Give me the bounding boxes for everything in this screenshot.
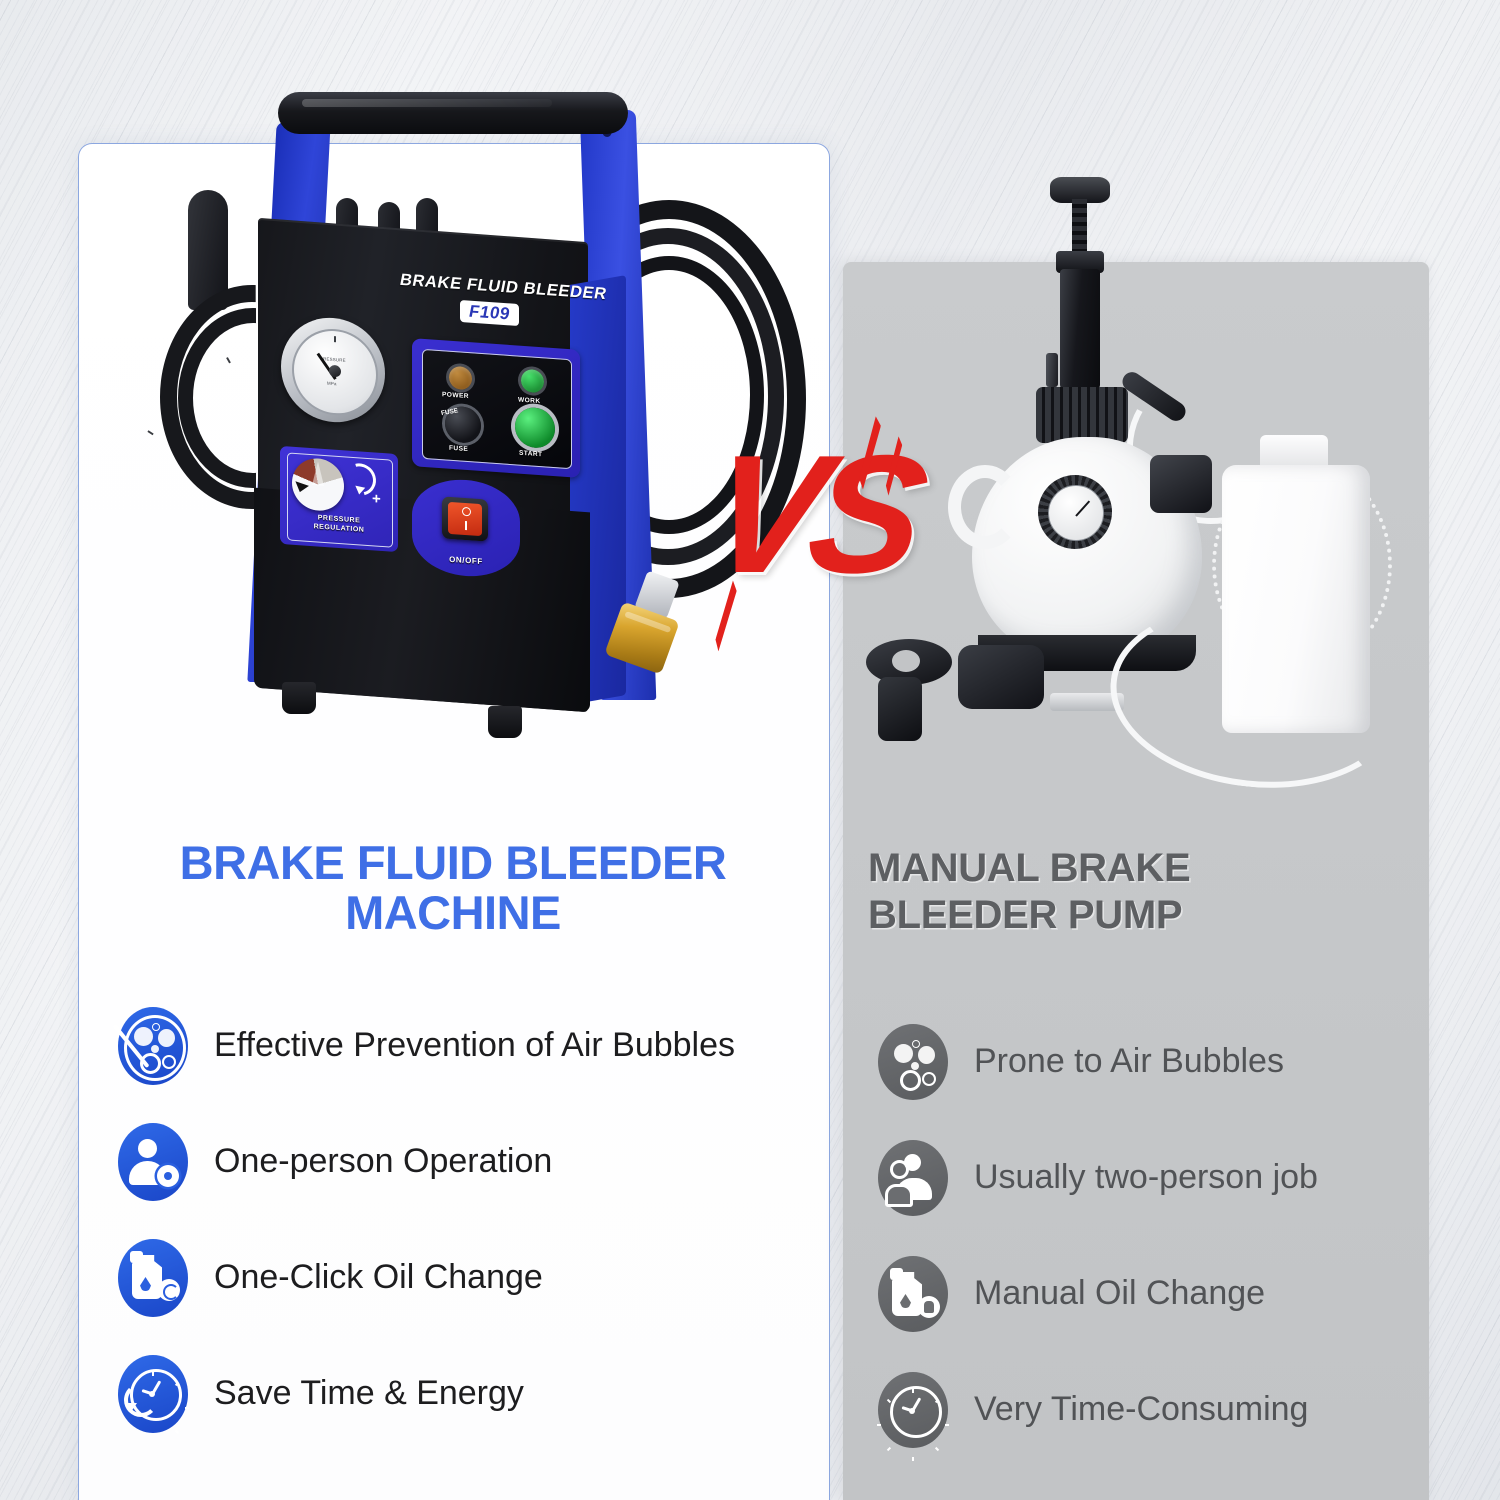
right-title-line1: MANUAL BRAKE	[868, 846, 1190, 890]
pump-screw-cap	[1036, 387, 1128, 443]
list-item: One-person Operation	[118, 1116, 818, 1208]
left-feature-list: Effective Prevention of Air Bubbles One-…	[118, 1000, 818, 1464]
clock-arrow-icon	[118, 1355, 188, 1433]
left-panel-title: BRAKE FLUID BLEEDER MACHINE	[78, 838, 828, 938]
list-item: Usually two-person job	[878, 1134, 1408, 1222]
list-item: Effective Prevention of Air Bubbles	[118, 1000, 818, 1092]
feature-text: Save Time & Energy	[214, 1373, 524, 1414]
feature-text: Manual Oil Change	[974, 1273, 1265, 1314]
oil-change-auto-icon	[118, 1239, 188, 1317]
feature-text: One-Click Oil Change	[214, 1257, 543, 1298]
oil-change-manual-icon	[878, 1256, 948, 1332]
right-feature-list: Prone to Air Bubbles Usually two-person …	[878, 1018, 1408, 1482]
feature-text: Very Time-Consuming	[974, 1389, 1308, 1430]
tank-valve	[1150, 455, 1212, 513]
on-off-switch[interactable]	[442, 496, 488, 541]
machine-foot-right	[488, 706, 522, 738]
feature-text: Effective Prevention of Air Bubbles	[214, 1025, 735, 1066]
product-model-badge: F109	[460, 300, 519, 326]
pump-pressure-gauge	[1038, 475, 1112, 549]
list-item: Prone to Air Bubbles	[878, 1018, 1408, 1106]
list-item: Save Time & Energy	[118, 1348, 818, 1440]
right-panel-title: MANUAL BRAKE BLEEDER PUMP	[868, 845, 1408, 939]
pressure-label-line2: REGULATION	[314, 523, 365, 534]
list-item: Manual Oil Change	[878, 1250, 1408, 1338]
control-plate-inner: POWER WORK FUSE START	[422, 349, 572, 469]
brake-fluid-bleeder-machine-image: BRAKE FLUID BLEEDER F109 PRESSURE MPa PO…	[150, 70, 770, 790]
feature-text: One-person Operation	[214, 1141, 552, 1182]
pump-threaded-rod	[1072, 199, 1087, 259]
start-button-label: START	[519, 450, 543, 459]
machine-foot-left	[282, 682, 316, 714]
manual-brake-bleeder-pump-image	[860, 165, 1420, 745]
no-air-bubbles-icon	[118, 1007, 188, 1085]
feature-text: Usually two-person job	[974, 1157, 1318, 1198]
gauge-unit-label: MPa	[327, 381, 337, 387]
right-title-line2: BLEEDER PUMP	[868, 893, 1182, 937]
tank-foot-adapter	[958, 645, 1044, 709]
power-indicator-led	[449, 366, 472, 391]
adapter-handle	[878, 677, 922, 741]
gauge-dial-face: PRESSURE MPa	[292, 326, 378, 418]
start-button[interactable]	[515, 406, 555, 449]
clock-icon	[878, 1372, 948, 1448]
control-plate: POWER WORK FUSE START	[412, 338, 580, 478]
two-person-icon	[878, 1140, 948, 1216]
list-item: One-Click Oil Change	[118, 1232, 818, 1324]
fuse-knob-label: FUSE	[449, 445, 468, 453]
list-item: Very Time-Consuming	[878, 1366, 1408, 1454]
versus-label: VS	[699, 430, 926, 598]
carry-handle	[278, 92, 628, 134]
pump-gauge-needle	[1075, 500, 1090, 516]
left-title-line2: MACHINE	[345, 886, 561, 939]
power-indicator-label: POWER	[442, 391, 469, 400]
pump-nipple	[1046, 353, 1058, 387]
left-title-line1: BRAKE FLUID BLEEDER	[180, 836, 727, 889]
work-indicator-led	[521, 369, 544, 394]
versus-graphic: VS	[712, 430, 942, 635]
air-bubbles-icon	[878, 1024, 948, 1100]
pump-cylinder	[1060, 269, 1100, 389]
pump-gauge-face	[1048, 485, 1104, 541]
power-symbol-icon	[448, 502, 482, 536]
plus-sign-label: +	[372, 490, 381, 508]
pressure-regulation-box: + PRESSURE REGULATION	[280, 446, 398, 552]
feature-text: Prone to Air Bubbles	[974, 1041, 1284, 1082]
comparison-infographic: BRAKE FLUID BLEEDER F109 PRESSURE MPa PO…	[0, 0, 1500, 1500]
fuse-knob[interactable]	[445, 405, 481, 444]
gauge-hub	[329, 365, 341, 378]
tank-handle	[948, 465, 1022, 549]
work-indicator-label: WORK	[518, 397, 540, 406]
one-person-operation-icon	[118, 1123, 188, 1201]
